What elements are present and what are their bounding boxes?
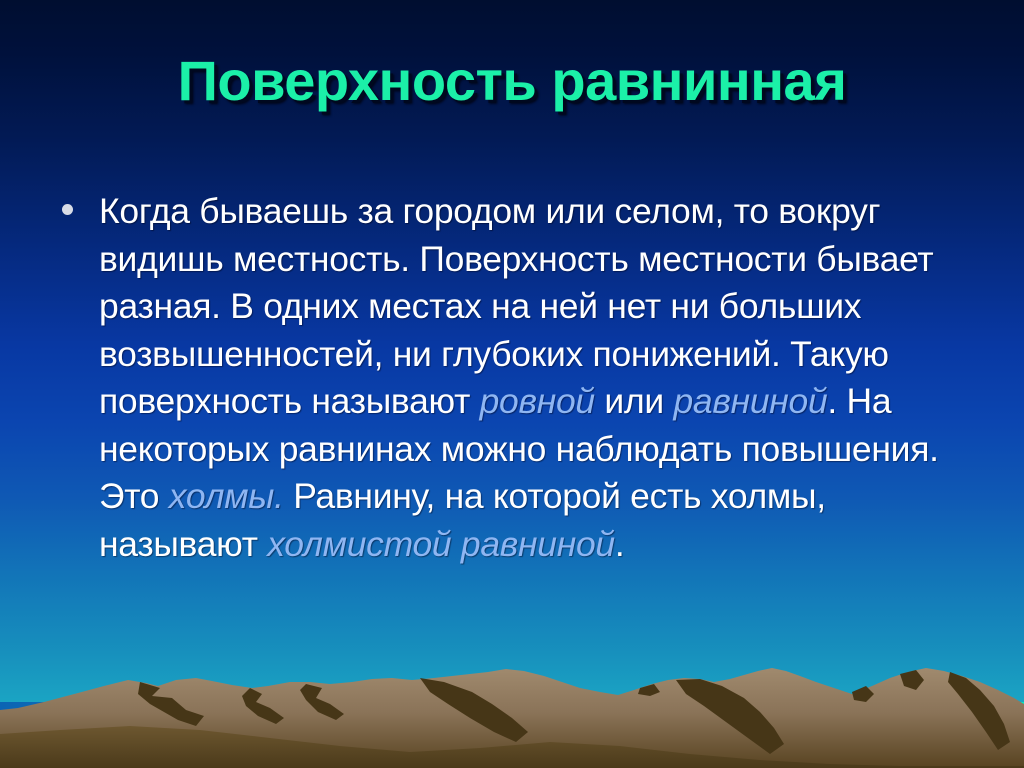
bullet-point-icon	[62, 204, 73, 215]
body-paragraph: Когда бываешь за городом или селом, то в…	[99, 188, 962, 568]
body-text-run-2: или	[595, 381, 674, 421]
slide-title: Поверхность равнинная	[0, 52, 1024, 111]
highlighted-term-1: ровной	[480, 381, 595, 421]
body-content-block: Когда бываешь за городом или селом, то в…	[62, 188, 962, 568]
presentation-slide: Поверхность равнинная Когда бываешь за г…	[0, 0, 1024, 768]
highlighted-term-3: равниной	[673, 381, 827, 421]
highlighted-term-5: холмы.	[169, 476, 284, 516]
mountain-silhouette	[0, 638, 1024, 768]
body-text-run-8: .	[615, 524, 625, 564]
highlighted-term-7: холмистой равниной	[267, 524, 615, 564]
